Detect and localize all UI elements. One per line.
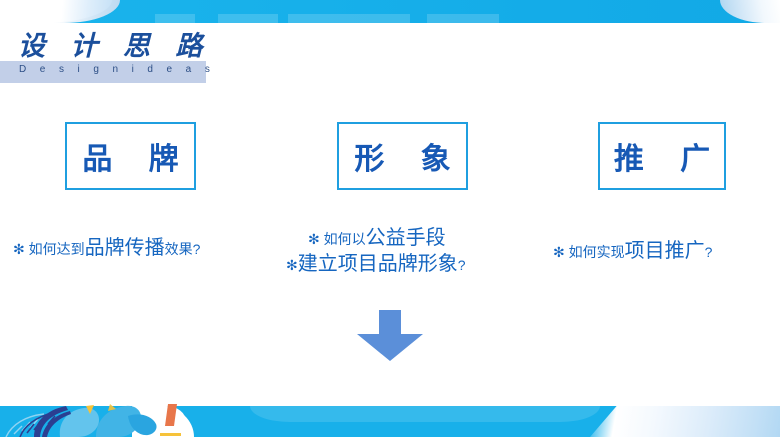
header-accent-block-3: [288, 14, 410, 23]
page-subtitle: D e s i g n i d e a s: [19, 65, 215, 75]
slide-canvas: 设 计 思 路 D e s i g n i d e a s 品 牌 形 象 推 …: [0, 0, 780, 437]
page-title: 设 计 思 路: [18, 33, 212, 60]
caption-image-line-2: ✻建立项目品牌形象?: [286, 252, 466, 278]
keyword-label-image: 形 象: [340, 134, 464, 178]
caption-image-emphasis-1: 公益手段: [366, 227, 446, 249]
footer-right-gradient: [590, 406, 780, 437]
keyword-box-image[interactable]: 形 象: [337, 122, 468, 190]
caption-promotion-bullet-icon: ✻: [553, 244, 565, 260]
caption-brand: ✻ 如何达到品牌传播效果?: [13, 236, 200, 262]
keyword-label-promotion: 推 广: [600, 134, 724, 178]
keyword-box-brand[interactable]: 品 牌: [65, 122, 196, 190]
footer-decoration: [0, 400, 780, 437]
header-accent-block-4: [427, 14, 499, 23]
walking-legs-svg: [150, 404, 210, 437]
caption-promotion: ✻ 如何实现项目推广?: [553, 239, 712, 265]
caption-brand-bullet-icon: ✻: [13, 241, 25, 257]
footer-band-highlight: [250, 406, 600, 422]
caption-image-lead: 如何以: [320, 231, 366, 247]
header-accent-block-1: [155, 14, 195, 23]
down-arrow-icon: [354, 310, 426, 362]
caption-promotion-lead: 如何实现: [565, 244, 625, 260]
caption-image-line-1: ✻ 如何以公益手段: [308, 226, 466, 252]
caption-image-bullet-icon-1: ✻: [308, 231, 320, 247]
keyword-label-brand: 品 牌: [68, 134, 192, 178]
caption-brand-emphasis: 品牌传播: [85, 237, 165, 259]
caption-brand-tail: 效果?: [165, 241, 201, 257]
caption-image-bullet-icon-2: ✻: [286, 257, 298, 273]
caption-brand-lead: 如何达到: [25, 241, 85, 257]
caption-image: ✻ 如何以公益手段 ✻建立项目品牌形象?: [308, 226, 466, 277]
down-arrow-svg: [354, 310, 426, 362]
keyword-box-promotion[interactable]: 推 广: [598, 122, 726, 190]
header-accent-block-2: [218, 14, 278, 23]
caption-promotion-tail: ?: [705, 244, 713, 260]
caption-image-emphasis-2: 建立项目品牌形象: [298, 253, 458, 275]
header-right-curve: [720, 0, 780, 23]
caption-image-tail: ?: [458, 257, 466, 273]
walking-legs-icon: [150, 404, 210, 437]
caption-promotion-emphasis: 项目推广: [625, 240, 705, 262]
header-band: [0, 0, 780, 23]
header-left-curve-inner: [0, 0, 112, 23]
